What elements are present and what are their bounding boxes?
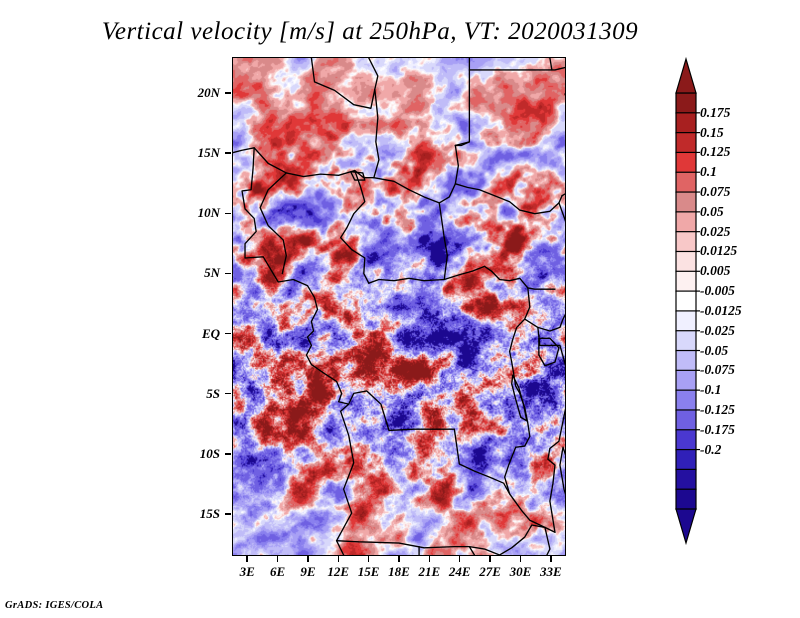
colorbar-tick-label: -0.0125 bbox=[700, 303, 742, 319]
border-path bbox=[560, 447, 565, 506]
colorbar-band bbox=[676, 469, 696, 489]
colorbar-tick-label: -0.125 bbox=[700, 402, 735, 418]
colorbar: 0.1750.150.1250.10.0750.050.0250.01250.0… bbox=[670, 57, 800, 557]
colorbar-band bbox=[676, 410, 696, 430]
colorbar-tick-label: -0.1 bbox=[700, 382, 721, 398]
colorbar-tick-label: 0.05 bbox=[700, 204, 724, 220]
x-axis-label: 27E bbox=[479, 564, 501, 580]
grads-attribution: GrADS: IGES/COLA bbox=[5, 600, 103, 611]
colorbar-band bbox=[676, 212, 696, 232]
colorbar-band bbox=[676, 450, 696, 470]
x-axis-tick bbox=[520, 556, 522, 562]
border-path bbox=[337, 404, 354, 555]
colorbar-tick-label: 0.15 bbox=[700, 125, 724, 141]
x-axis-tick bbox=[307, 556, 309, 562]
colorbar-band bbox=[676, 93, 696, 113]
y-axis-tick bbox=[225, 273, 231, 275]
border-path bbox=[374, 145, 458, 202]
y-axis-tick bbox=[225, 453, 231, 455]
colorbar-tick-label: -0.025 bbox=[700, 323, 735, 339]
colorbar-band bbox=[676, 271, 696, 291]
x-axis-tick bbox=[338, 556, 340, 562]
x-axis-tick bbox=[550, 556, 552, 562]
x-axis-label: 30E bbox=[510, 564, 532, 580]
y-axis-label: 20N bbox=[0, 85, 220, 101]
colorbar-band bbox=[676, 311, 696, 331]
colorbar-band bbox=[676, 291, 696, 311]
colorbar-band bbox=[676, 192, 696, 212]
x-axis-label: 18E bbox=[388, 564, 410, 580]
y-axis-tick bbox=[225, 92, 231, 94]
border-path bbox=[539, 338, 559, 365]
colorbar-tick-label: 0.005 bbox=[700, 263, 730, 279]
colorbar-band bbox=[676, 133, 696, 153]
x-axis-label: 3E bbox=[240, 564, 255, 580]
y-axis-label: 15S bbox=[0, 506, 220, 522]
border-path bbox=[492, 271, 555, 289]
x-axis-tick bbox=[398, 556, 400, 562]
border-path bbox=[341, 171, 369, 284]
y-axis-tick bbox=[225, 333, 231, 335]
country-borders-overlay bbox=[233, 58, 565, 555]
colorbar-tick-label: -0.2 bbox=[700, 442, 721, 458]
border-path bbox=[548, 345, 565, 532]
colorbar-tick-label: 0.025 bbox=[700, 224, 730, 240]
x-axis-label: 9E bbox=[300, 564, 315, 580]
map-plot-area bbox=[232, 57, 566, 556]
border-path bbox=[337, 541, 470, 548]
border-path bbox=[455, 184, 562, 214]
border-path bbox=[439, 203, 447, 280]
x-axis-label: 12E bbox=[327, 564, 349, 580]
y-axis-tick bbox=[225, 152, 231, 154]
colorbar-tick-label: -0.005 bbox=[700, 283, 735, 299]
border-path bbox=[311, 58, 377, 108]
colorbar-tick-label: -0.05 bbox=[700, 343, 728, 359]
colorbar-tick-label: 0.0125 bbox=[700, 243, 737, 259]
border-path bbox=[369, 266, 492, 283]
colorbar-band bbox=[676, 232, 696, 252]
border-path bbox=[559, 203, 565, 278]
colorbar-band bbox=[676, 390, 696, 410]
border-path bbox=[512, 375, 527, 421]
colorbar-tick-label: -0.175 bbox=[700, 422, 735, 438]
y-axis-label: 10S bbox=[0, 446, 220, 462]
y-axis-label: 15N bbox=[0, 145, 220, 161]
colorbar-band bbox=[676, 489, 696, 509]
x-axis-tick bbox=[489, 556, 491, 562]
border-path bbox=[562, 163, 565, 195]
colorbar-band bbox=[676, 370, 696, 390]
colorbar-band bbox=[676, 251, 696, 271]
colorbar-max-arrow bbox=[676, 59, 696, 93]
x-axis-tick bbox=[246, 556, 248, 562]
colorbar-band bbox=[676, 351, 696, 371]
colorbar-tick-label: 0.125 bbox=[700, 144, 730, 160]
x-axis-label: 33E bbox=[540, 564, 562, 580]
border-path bbox=[510, 351, 530, 447]
border-path bbox=[469, 525, 545, 555]
colorbar-min-arrow bbox=[676, 509, 696, 543]
y-axis-label: 10N bbox=[0, 205, 220, 221]
colorbar-band bbox=[676, 113, 696, 133]
border-path bbox=[545, 527, 550, 555]
x-axis-label: 24E bbox=[449, 564, 471, 580]
border-path bbox=[349, 391, 555, 532]
colorbar-tick-label: -0.075 bbox=[700, 362, 735, 378]
page-title: Vertical velocity [m/s] at 250hPa, VT: 2… bbox=[0, 18, 740, 46]
border-path bbox=[245, 257, 349, 404]
colorbar-tick-label: 0.1 bbox=[700, 164, 717, 180]
colorbar-band bbox=[676, 172, 696, 192]
border-path bbox=[550, 58, 552, 70]
border-path bbox=[525, 278, 565, 331]
y-axis-tick bbox=[225, 513, 231, 515]
y-axis-tick bbox=[225, 213, 231, 215]
x-axis-label: 15E bbox=[358, 564, 380, 580]
colorbar-tick-label: 0.075 bbox=[700, 184, 730, 200]
colorbar-band bbox=[676, 152, 696, 172]
border-path bbox=[242, 148, 256, 258]
colorbar-band bbox=[676, 430, 696, 450]
x-axis-tick bbox=[368, 556, 370, 562]
y-axis-label: EQ bbox=[0, 326, 220, 342]
border-path bbox=[374, 89, 379, 178]
x-axis-tick bbox=[459, 556, 461, 562]
x-axis-label: 21E bbox=[419, 564, 441, 580]
border-path bbox=[469, 68, 565, 70]
y-axis-tick bbox=[225, 393, 231, 395]
x-axis-tick bbox=[277, 556, 279, 562]
x-axis-label: 6E bbox=[270, 564, 285, 580]
colorbar-tick-label: 0.175 bbox=[700, 105, 730, 121]
y-axis-label: 5N bbox=[0, 265, 220, 281]
x-axis-tick bbox=[429, 556, 431, 562]
colorbar-band bbox=[676, 331, 696, 351]
y-axis-label: 5S bbox=[0, 386, 220, 402]
border-path bbox=[455, 58, 469, 145]
